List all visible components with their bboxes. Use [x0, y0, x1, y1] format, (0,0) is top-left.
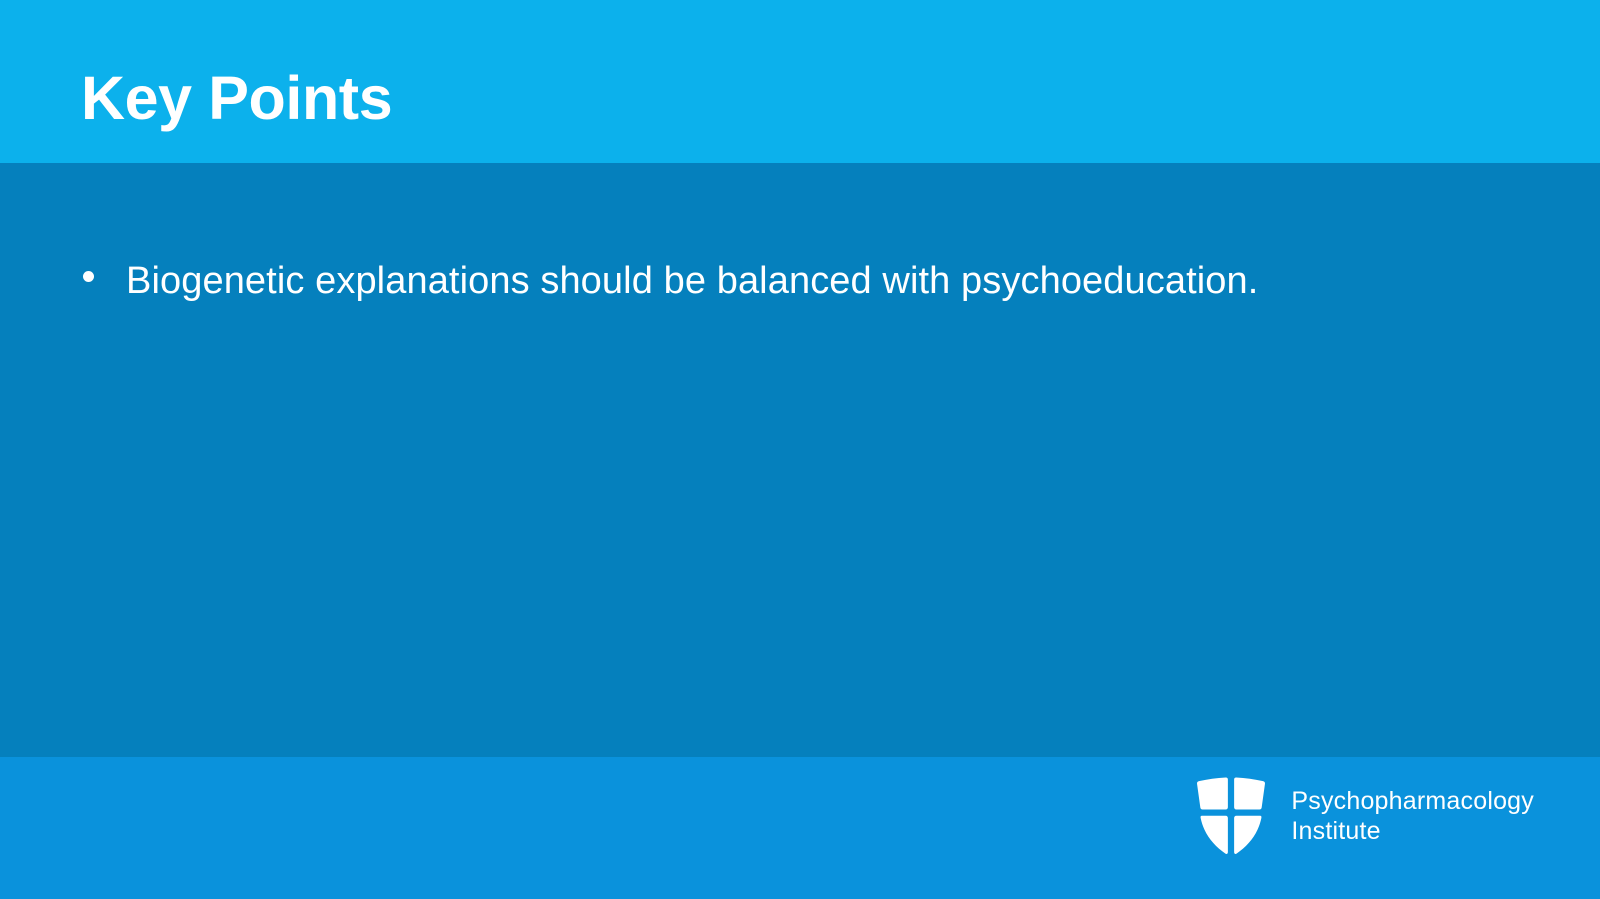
presentation-slide: Key Points Biogenetic explanations shoul…: [0, 0, 1600, 899]
slide-footer-band: Psychopharmacology Institute: [0, 757, 1600, 899]
shield-logo-icon: [1193, 775, 1269, 857]
brand-logo: Psychopharmacology Institute: [1193, 775, 1534, 857]
slide-header-band: Key Points: [0, 0, 1600, 163]
bullet-dot-icon: [83, 271, 94, 282]
slide-body-band: Biogenetic explanations should be balanc…: [0, 163, 1600, 757]
page-title: Key Points: [81, 68, 392, 129]
list-item: Biogenetic explanations should be balanc…: [0, 163, 1600, 308]
key-points-list: Biogenetic explanations should be balanc…: [0, 163, 1600, 308]
brand-wordmark: Psychopharmacology Institute: [1291, 786, 1534, 847]
brand-name-line-1: Psychopharmacology: [1291, 786, 1534, 817]
brand-name-line-2: Institute: [1291, 816, 1534, 847]
list-item-label: Biogenetic explanations should be balanc…: [126, 258, 1540, 306]
